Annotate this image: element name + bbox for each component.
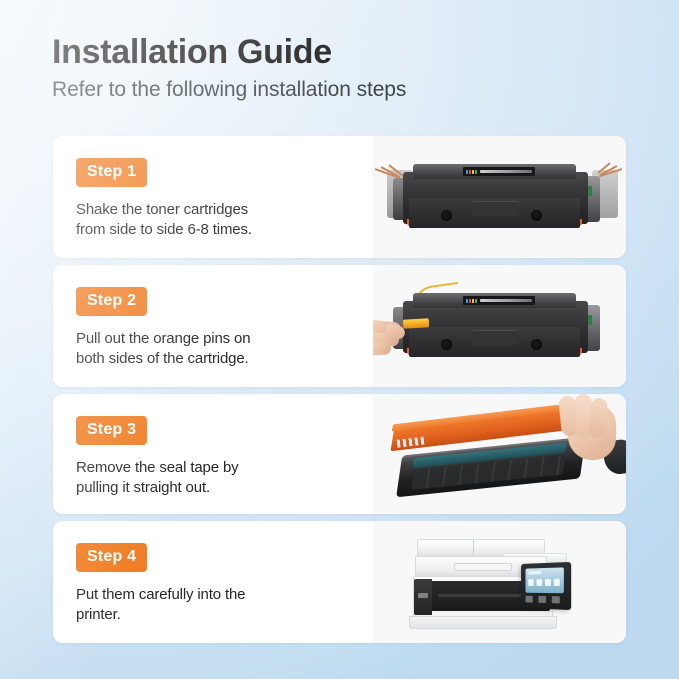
step-1-text-panel: Step 1 Shake the toner cartridges from s… <box>53 136 373 258</box>
toner-cartridge-shaking-icon <box>373 136 626 258</box>
step-4-badge: Step 4 <box>76 543 147 572</box>
installation-guide-page: Installation Guide Refer to the followin… <box>0 0 679 679</box>
step-3-text-panel: Step 3 Remove the seal tape by pulling i… <box>53 394 373 514</box>
printer-icon <box>407 533 582 633</box>
cartridge-brand-label <box>463 167 535 176</box>
step-1-illustration <box>373 136 626 258</box>
hand-pulling-seal-tape-icon <box>373 394 626 514</box>
cartridge-body <box>403 293 588 357</box>
step-1-description: Shake the toner cartridges from side to … <box>76 200 373 239</box>
step-4-description: Put them carefully into the printer. <box>76 585 373 624</box>
steps-list: Step 1 Shake the toner cartridges from s… <box>53 136 626 650</box>
step-4-illustration <box>373 521 626 643</box>
step-card-2: Step 2 Pull out the orange pins on both … <box>53 265 626 387</box>
page-subtitle: Refer to the following installation step… <box>52 76 612 104</box>
step-2-text-panel: Step 2 Pull out the orange pins on both … <box>53 265 373 387</box>
step-card-3: Step 3 Remove the seal tape by pulling i… <box>53 394 626 514</box>
hand-pulling-pin-icon <box>373 265 626 387</box>
hand-icon <box>556 396 618 468</box>
step-3-description: Remove the seal tape by pulling it strai… <box>76 458 373 497</box>
step-card-4: Step 4 Put them carefully into the print… <box>53 521 626 643</box>
cartridge-body <box>403 164 588 228</box>
hand-icon <box>373 317 413 363</box>
page-header: Installation Guide Refer to the followin… <box>52 32 612 104</box>
step-2-description: Pull out the orange pins on both sides o… <box>76 329 373 368</box>
step-1-badge: Step 1 <box>76 158 147 187</box>
printer-side-panel <box>414 579 432 615</box>
cartridge-brand-label <box>463 296 535 305</box>
printer-base <box>409 616 557 629</box>
step-4-text-panel: Step 4 Put them carefully into the print… <box>53 521 373 643</box>
step-2-badge: Step 2 <box>76 287 147 316</box>
printer-hard-buttons <box>526 596 560 604</box>
step-card-1: Step 1 Shake the toner cartridges from s… <box>53 136 626 258</box>
page-title: Installation Guide <box>52 32 612 72</box>
printer-logo <box>418 593 428 598</box>
step-2-illustration <box>373 265 626 387</box>
step-3-illustration <box>373 394 626 514</box>
printer-control-panel <box>521 562 571 610</box>
step-3-badge: Step 3 <box>76 416 147 445</box>
printer-touchscreen <box>526 567 564 593</box>
